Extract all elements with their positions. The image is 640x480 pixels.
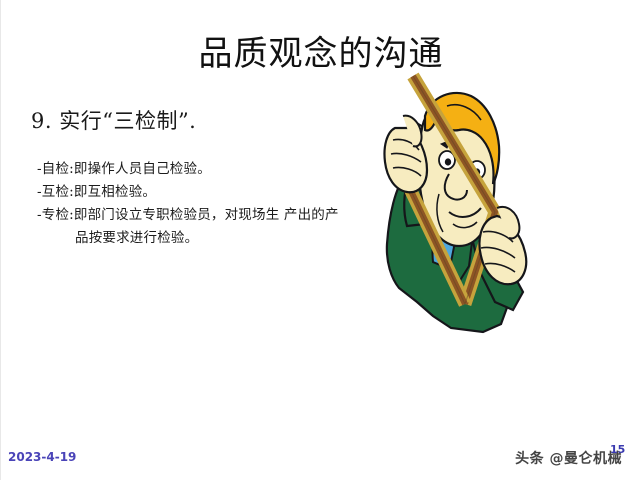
body-content: 9. 实行“三检制”. -自检:即操作人员自己检验。 -互检:即互相检验。 -专… — [31, 106, 451, 250]
bullet-list: -自检:即操作人员自己检验。 -互检:即互相检验。 -专检:即部门设立专职检验员… — [31, 158, 451, 250]
watermark-text: 头条 @曼仑机械 — [515, 448, 622, 468]
section-heading: 9. 实行“三检制”. — [31, 106, 451, 136]
list-item: -自检:即操作人员自己检验。 — [31, 158, 451, 181]
footer-date: 2023-4-19 — [8, 450, 76, 464]
list-item: -互检:即互相检验。 — [31, 181, 451, 204]
list-item: -专检:即部门设立专职检验员，对现场生 产出的产 — [31, 204, 451, 227]
presentation-slide: 品质观念的沟通 — [0, 0, 640, 480]
list-item: 品按要求进行检验。 — [31, 227, 451, 250]
page-number: 15 — [610, 443, 625, 456]
